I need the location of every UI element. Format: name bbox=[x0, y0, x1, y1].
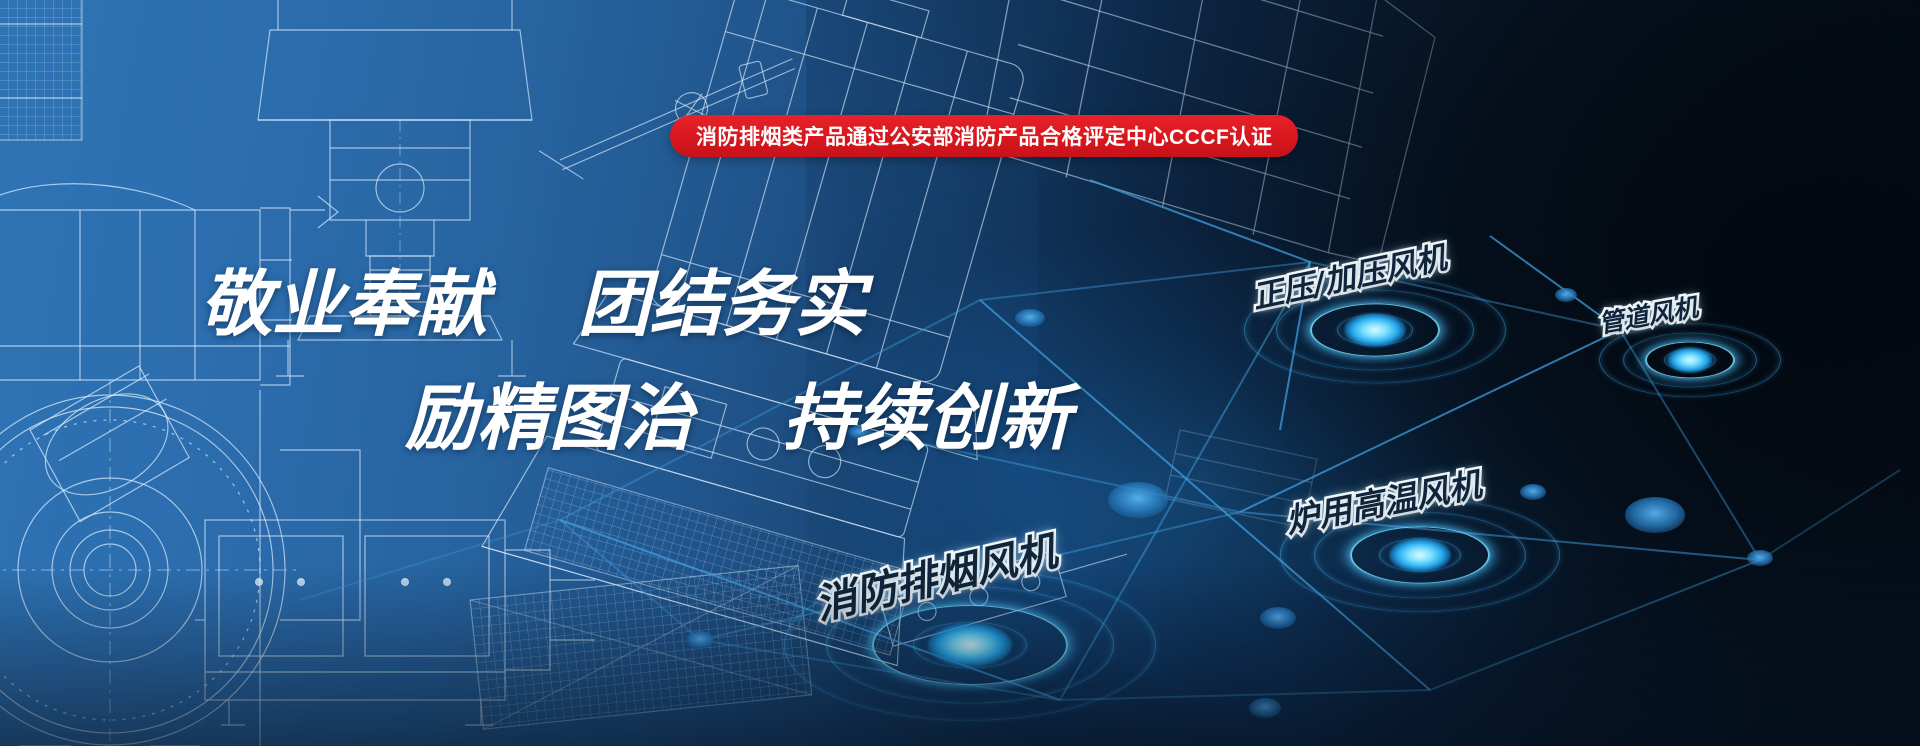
slogan-line2-part2: 持续创新 bbox=[783, 375, 1071, 460]
slogan-line-1: 敬业奉献 团结务实 bbox=[200, 268, 866, 340]
product-hotspot-1[interactable]: 正压/加压风机 bbox=[1210, 230, 1540, 430]
product-hotspot-2[interactable]: 管道风机 bbox=[1580, 290, 1800, 430]
certification-badge[interactable]: 消防排烟类产品通过公安部消防产品合格评定中心CCCF认证 bbox=[670, 115, 1298, 157]
certification-text: 消防排烟类产品通过公安部消防产品合格评定中心CCCF认证 bbox=[696, 121, 1272, 151]
slogan-line1-part2: 团结务实 bbox=[578, 261, 866, 346]
slogan-line2-part1: 励精图治 bbox=[405, 375, 693, 460]
slogan-line1-part1: 敬业奉献 bbox=[200, 261, 488, 346]
hero-banner: 正压/加压风机 管道风机 炉用高温风机 消防排烟风机 bbox=[0, 0, 1920, 746]
slogan-line-2: 励精图治 持续创新 bbox=[405, 382, 1071, 454]
bottom-vignette bbox=[0, 567, 1920, 746]
hotspot-core-glow bbox=[1344, 313, 1406, 347]
hotspot-core-glow bbox=[1667, 347, 1713, 373]
